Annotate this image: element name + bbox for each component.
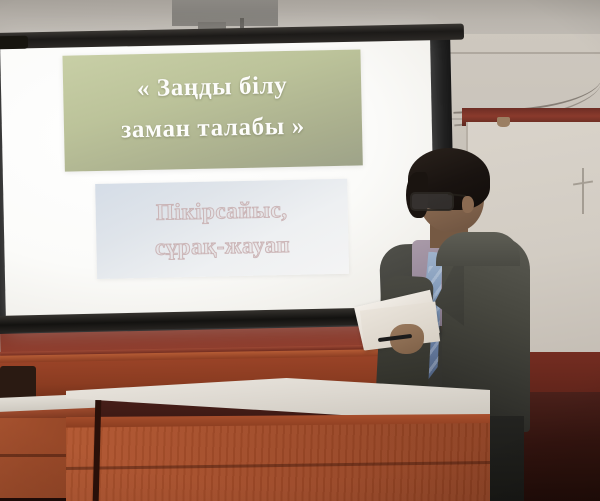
slide-subtitle-line-1: Пікірсайыс, [95, 191, 348, 231]
screen-roller-end-cap [0, 36, 28, 50]
photo-scene: « Заңды білу заман талабы » Пікірсайыс, … [0, 0, 600, 501]
slide-title-line-1: « Заңды білу [63, 63, 362, 110]
board-mount-bracket [497, 117, 510, 127]
presenter-ear [462, 196, 474, 213]
slide-subtitle-line-2: сұрақ-жауап [96, 226, 349, 266]
slide-title-line-2: заман талабы » [64, 104, 363, 151]
slide-subtitle-block: Пікірсайыс, сұрақ-жауап [95, 179, 349, 279]
desk-front [66, 378, 490, 501]
slide-subtitle-text: Пікірсайыс, сұрақ-жауап [95, 191, 348, 266]
presenter-shoulder [436, 232, 520, 266]
slide-title-block: « Заңды білу заман талабы » [62, 49, 362, 171]
wall-seam-upper [430, 52, 600, 54]
slide-title-text: « Заңды білу заман талабы » [63, 63, 363, 151]
